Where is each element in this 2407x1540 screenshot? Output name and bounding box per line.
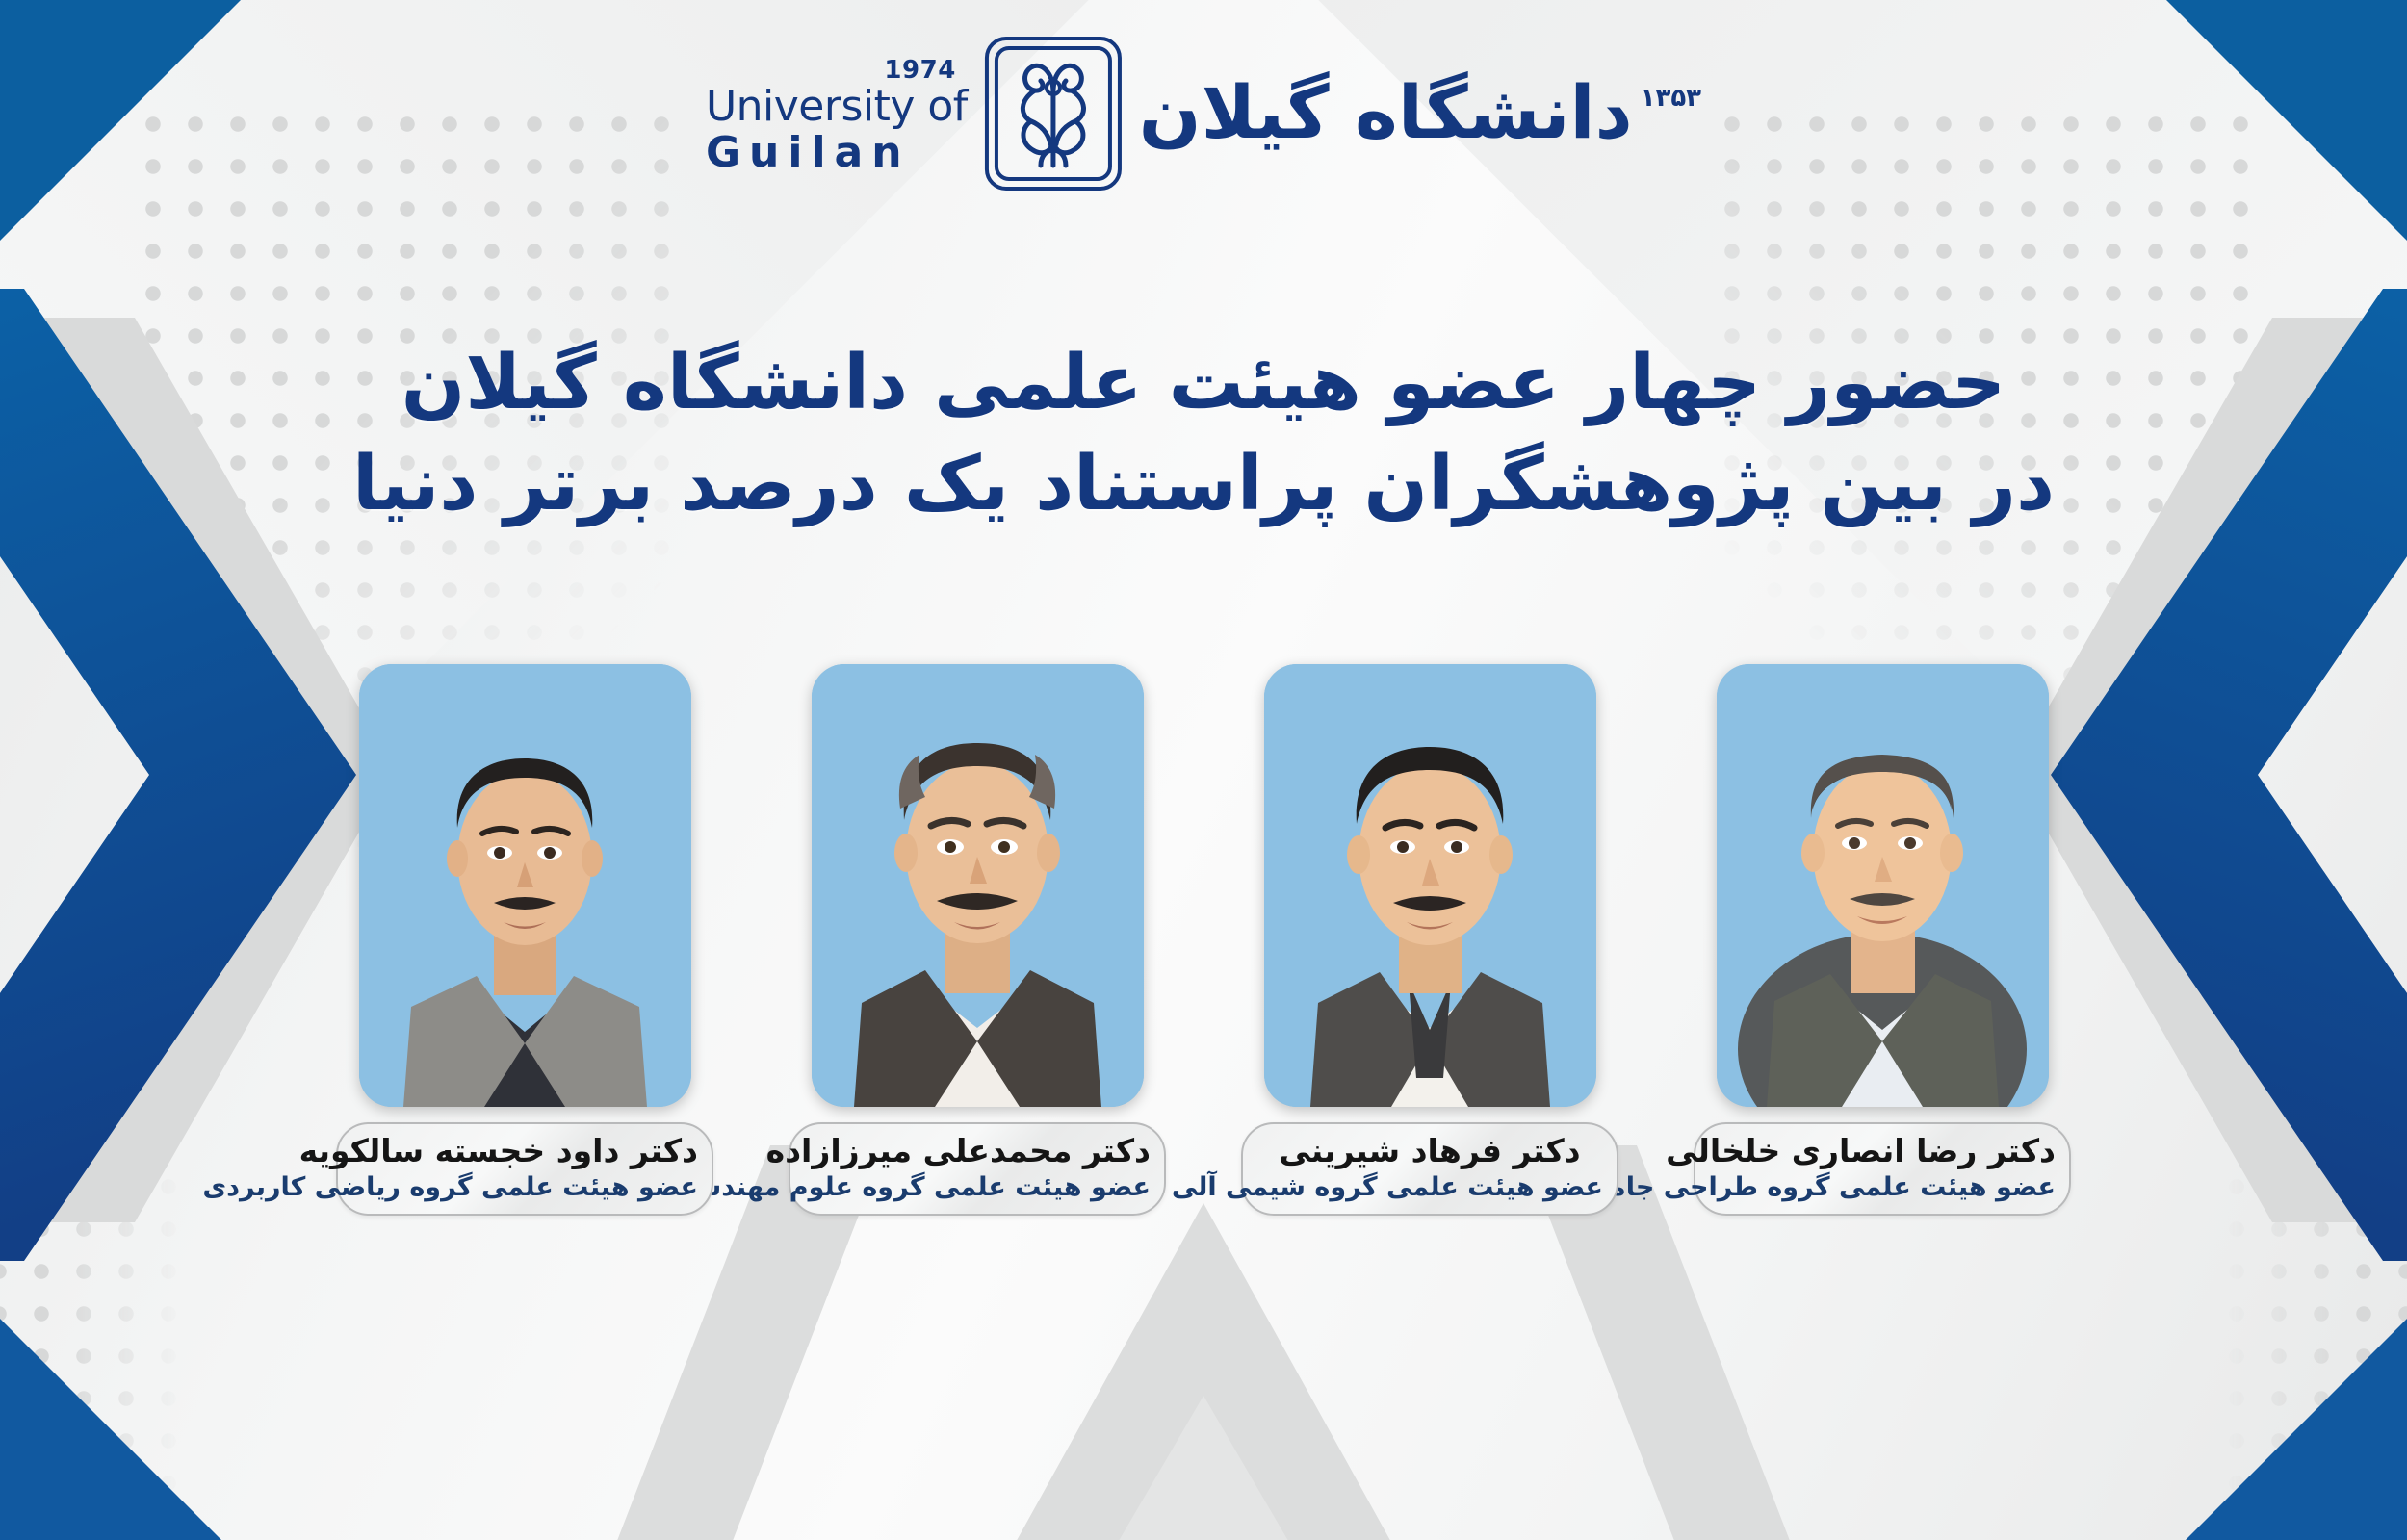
logo-guilan-word: Guilan <box>706 132 911 174</box>
researcher-role: عضو هیئت علمی گروه علوم مهندسی <box>804 1172 1151 1203</box>
headline-line-1: حضور چهار عضو هیئت علمی دانشگاه گیلان <box>0 333 2407 434</box>
logo-persian-block: ۱۳۵۳ دانشگاه گیلان <box>1139 76 1701 155</box>
researcher-name: دکتر داود خجسته سالکویه <box>351 1133 698 1169</box>
headline-line-2: در بین پژوهشگران پراستناد یک درصد برتر د… <box>0 434 2407 535</box>
portrait-farhad-shirini <box>1264 664 1596 1107</box>
logo-year-persian: ۱۳۵۳ <box>1641 84 1701 113</box>
researchers-row: دکتر رضا انصاری خلخالی عضو هیئت علمی گرو… <box>0 664 2407 1216</box>
logo-english-block: 1974 University of Guilan <box>706 58 968 174</box>
portrait-reza-ansari-khalkhali <box>1717 664 2049 1107</box>
researcher-name: دکتر رضا انصاری خلخالی <box>1709 1133 2056 1169</box>
researcher-role: عضو هیئت علمی گروه ریاضی کاربردی <box>351 1172 698 1203</box>
portrait-davood-khojasteh-salkuyeh <box>359 664 691 1107</box>
researcher-badge: دکتر رضا انصاری خلخالی عضو هیئت علمی گرو… <box>1694 1122 2071 1216</box>
researcher-card: دکتر فرهاد شیرینی عضو هیئت علمی گروه شیم… <box>1261 664 1598 1216</box>
decorative-triangle-bottom-left <box>0 1319 221 1540</box>
researcher-role: عضو هیئت علمی گروه شیمی آلی <box>1256 1172 1603 1203</box>
researcher-name: دکتر محمدعلی میرزازاده <box>804 1133 1151 1169</box>
page-title: حضور چهار عضو هیئت علمی دانشگاه گیلان در… <box>0 333 2407 534</box>
researcher-badge: دکتر داود خجسته سالکویه عضو هیئت علمی گر… <box>336 1122 713 1216</box>
researcher-card: دکتر محمدعلی میرزازاده عضو هیئت علمی گرو… <box>809 664 1146 1216</box>
decorative-triangle-top-left <box>0 0 241 241</box>
researcher-card: دکتر داود خجسته سالکویه عضو هیئت علمی گر… <box>356 664 693 1216</box>
researcher-name: دکتر فرهاد شیرینی <box>1256 1133 1603 1169</box>
logo-university-word: University of <box>706 86 968 128</box>
logo-year-english: 1974 <box>884 58 955 83</box>
decorative-triangle-top-right <box>2166 0 2407 241</box>
decorative-triangle-bottom-right <box>2186 1319 2407 1540</box>
researcher-badge: دکتر فرهاد شیرینی عضو هیئت علمی گروه شیم… <box>1241 1122 1618 1216</box>
university-logo: 1974 University of Guilan <box>706 33 1701 198</box>
researcher-role: عضو هیئت علمی گروه طراحی جامدات <box>1709 1172 2056 1203</box>
guilan-university-emblem-icon <box>981 33 1126 198</box>
poster-canvas: 1974 University of Guilan <box>0 0 2407 1540</box>
logo-university-name-persian: دانشگاه گیلان <box>1139 76 1633 149</box>
researcher-card: دکتر رضا انصاری خلخالی عضو هیئت علمی گرو… <box>1714 664 2051 1216</box>
portrait-mohammadali-mirzazadeh <box>812 664 1144 1107</box>
researcher-badge: دکتر محمدعلی میرزازاده عضو هیئت علمی گرو… <box>789 1122 1166 1216</box>
